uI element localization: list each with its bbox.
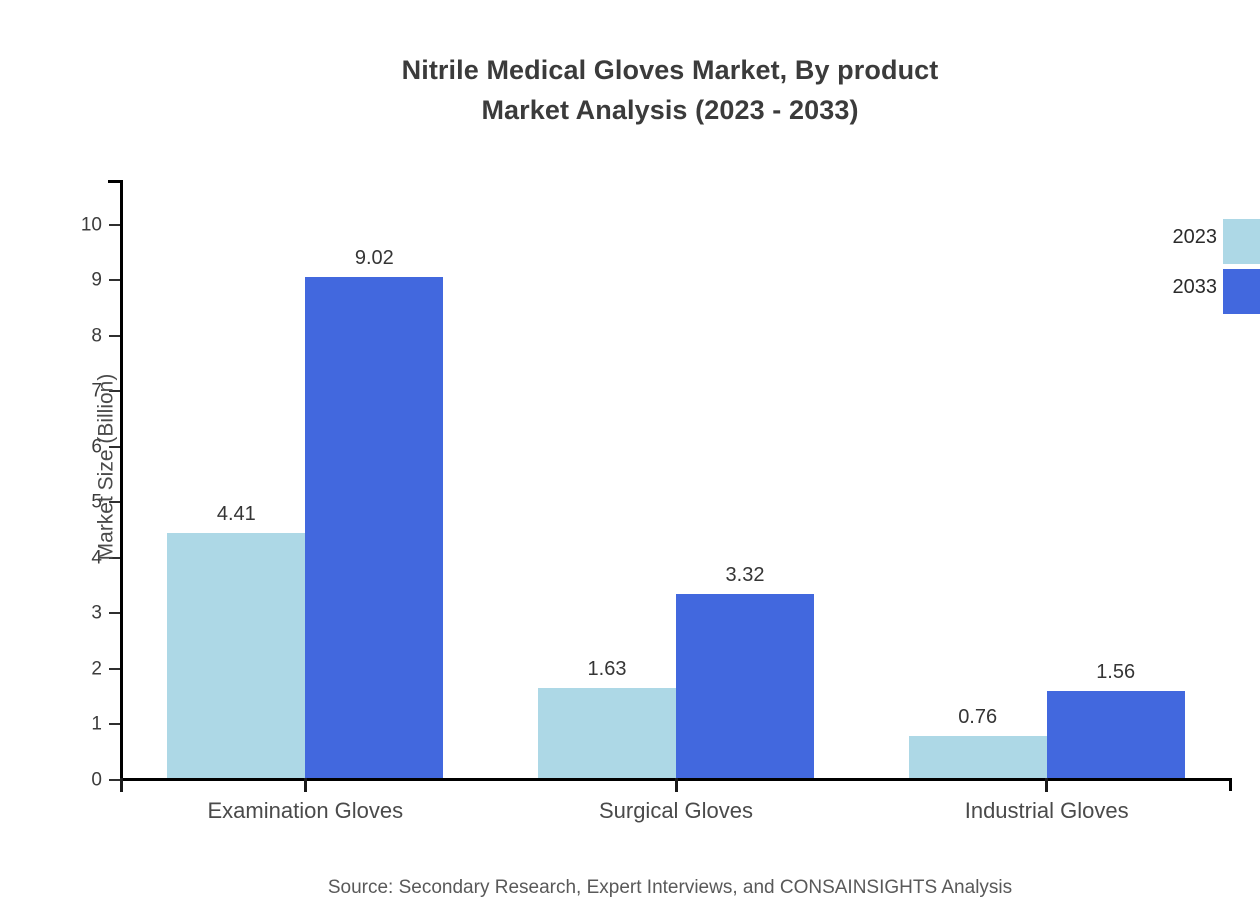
bar-2023-examination-gloves[interactable]: 4.41 [167,533,305,778]
y-axis-tick-label: 8 [91,326,102,345]
y-axis-tick-label: 10 [81,215,102,234]
y-axis-tick: 2 [109,668,120,670]
y-axis-tick: 8 [109,335,120,337]
legend-item-2033[interactable]: 2033 [1135,269,1260,319]
x-axis-tick [120,778,123,792]
bar-value-label: 0.76 [958,707,997,727]
legend-item-label: 2033 [1173,277,1218,297]
x-axis-category-label: Surgical Gloves [599,800,753,822]
y-axis-tick-label: 3 [91,604,102,623]
x-axis-category-label: Examination Gloves [208,800,404,822]
y-axis-tick: 9 [109,279,120,281]
chart-legend: 20232033 [1135,219,1260,319]
y-axis-tick: 0 [109,779,120,781]
y-axis-tick-label: 1 [91,715,102,734]
x-axis-right-cap [1229,778,1232,791]
chart-title-line-2: Market Analysis (2023 - 2033) [0,90,1260,130]
legend-item-2023[interactable]: 2023 [1135,219,1260,269]
bar-value-label: 1.63 [588,659,627,679]
bar-value-label: 1.56 [1096,662,1135,682]
plot-area: 012345678910 4.419.021.633.320.761.56 Ex… [120,180,1232,781]
y-axis-tick-label: 2 [91,659,102,678]
legend-item-label: 2023 [1173,227,1218,247]
bar-2033-surgical-gloves[interactable]: 3.32 [676,594,814,778]
legend-color-swatch [1223,269,1260,314]
bar-value-label: 3.32 [726,565,765,585]
bar-value-label: 4.41 [217,504,256,524]
bar-2023-industrial-gloves[interactable]: 0.76 [909,736,1047,778]
y-axis-top-cap [108,180,120,183]
chart-container: Nitrile Medical Gloves Market, By produc… [0,0,1260,920]
y-axis-tick: 10 [109,224,120,226]
x-axis-tick [1045,778,1048,792]
bar-2023-surgical-gloves[interactable]: 1.63 [538,688,676,778]
y-axis-line [120,180,123,781]
x-axis-category-label: Industrial Gloves [965,800,1129,822]
chart-title-line-1: Nitrile Medical Gloves Market, By produc… [0,50,1260,90]
y-axis-tick: 3 [109,612,120,614]
y-axis-title: Market Size (Billion) [96,374,117,561]
bar-2033-industrial-gloves[interactable]: 1.56 [1047,691,1185,778]
y-axis-tick-label: 9 [91,271,102,290]
legend-color-swatch [1223,219,1260,264]
x-axis-tick [304,778,307,792]
bar-2033-examination-gloves[interactable]: 9.02 [305,277,443,778]
bar-value-label: 9.02 [355,248,394,268]
y-axis-tick-label: 0 [91,770,102,789]
x-axis-tick [675,778,678,792]
chart-title: Nitrile Medical Gloves Market, By produc… [0,50,1260,130]
source-note: Source: Secondary Research, Expert Inter… [0,878,1260,897]
y-axis-tick: 1 [109,723,120,725]
